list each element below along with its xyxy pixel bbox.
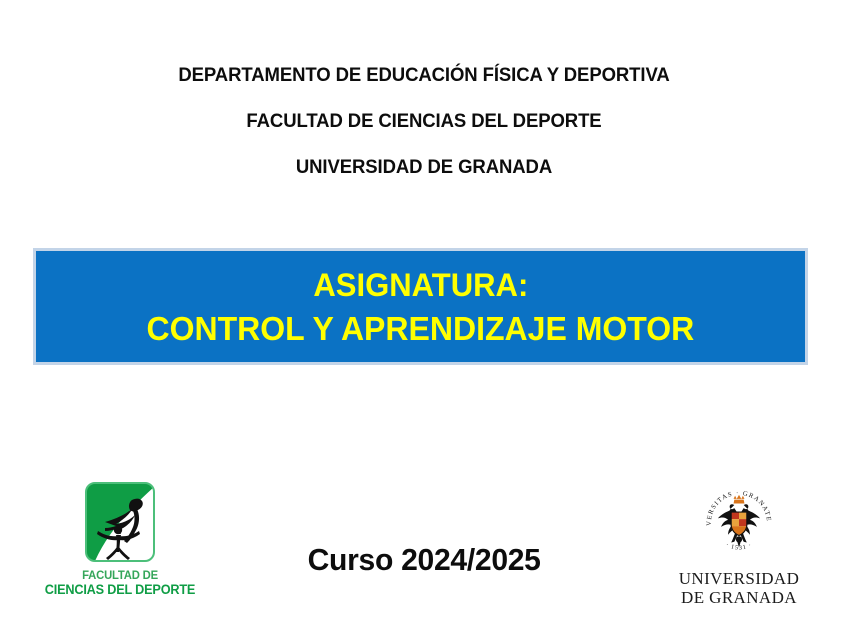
faculty-caption-line2: CIENCIAS DEL DEPORTE xyxy=(26,582,214,598)
university-logo-caption: UNIVERSIDAD DE GRANADA xyxy=(664,569,814,607)
slide-footer: FACULTAD DE CIENCIAS DEL DEPORTE Curso 2… xyxy=(0,470,848,636)
ugr-seal-icon: UNIVERSITAS · GRANATENSIS · 1531 · xyxy=(700,484,778,562)
subject-label: ASIGNATURA: xyxy=(313,263,528,307)
course-year-text: Curso 2024/2025 xyxy=(307,542,540,578)
header-faculty-line: FACULTAD DE CIENCIAS DEL DEPORTE xyxy=(21,98,827,144)
slide-header: DEPARTAMENTO DE EDUCACIÓN FÍSICA Y DEPOR… xyxy=(0,52,848,190)
course-title-banner: ASIGNATURA: CONTROL Y APRENDIZAJE MOTOR xyxy=(33,248,808,365)
university-caption-line1: UNIVERSIDAD xyxy=(664,569,814,588)
university-caption-line2: DE GRANADA xyxy=(664,588,814,607)
title-slide: DEPARTAMENTO DE EDUCACIÓN FÍSICA Y DEPOR… xyxy=(0,0,848,636)
subject-name: CONTROL Y APRENDIZAJE MOTOR xyxy=(147,307,695,351)
university-logo: UNIVERSITAS · GRANATENSIS · 1531 · xyxy=(664,484,814,607)
header-university-line: UNIVERSIDAD DE GRANADA xyxy=(21,144,827,190)
header-department-line: DEPARTAMENTO DE EDUCACIÓN FÍSICA Y DEPOR… xyxy=(21,52,827,98)
